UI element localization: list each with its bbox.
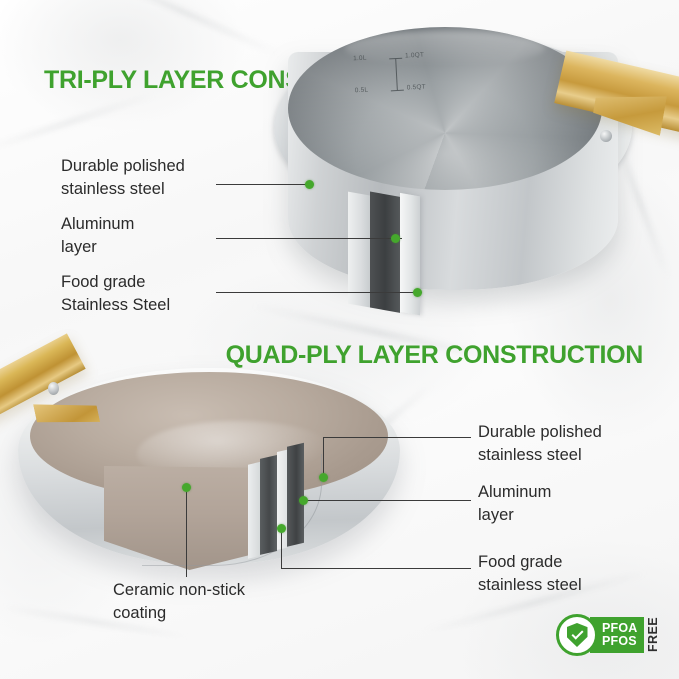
layer-aluminum	[370, 192, 400, 314]
leader-line-tri-2	[216, 238, 402, 239]
shield-check-icon	[556, 614, 598, 656]
measure-imperial: 0.5QT	[407, 84, 426, 92]
product-infographic: TRI-PLY LAYER CONSTRUCTION 1.0L 1.0QT 0.…	[0, 0, 679, 679]
layer-outer-steel	[348, 192, 370, 308]
shield-shape	[567, 623, 588, 647]
leader-line-ceramic	[186, 487, 187, 577]
leader-line-quad-2	[303, 500, 471, 501]
leader-line-tri-3	[216, 292, 422, 293]
leader-line-tri-1	[216, 184, 310, 185]
leader-dot-ceramic	[182, 483, 191, 492]
frying-pan-cutaway-layers	[248, 451, 306, 558]
measure-axis	[395, 58, 398, 90]
badge-pfos-label: PFOS	[602, 635, 638, 648]
measure-metric: 1.0L	[353, 55, 367, 63]
callout-label-ceramic-non-stick-coating: Ceramic non-stick coating	[113, 579, 245, 625]
pfoa-pfos-free-badge: PFOA PFOS FREE	[556, 613, 660, 657]
layer-outer-steel	[248, 462, 260, 559]
measure-tick	[391, 90, 404, 92]
saucepan-illustration: 1.0L 1.0QT 0.5L 0.5QT	[266, 14, 679, 314]
leader-line-quad-1-v	[323, 437, 324, 477]
saucepan-cutaway-layers	[348, 192, 420, 317]
layer-middle-steel	[277, 450, 287, 550]
leader-dot-tri-3	[413, 288, 422, 297]
leader-dot-quad-2	[299, 496, 308, 505]
leader-line-quad-1-h	[323, 437, 471, 438]
measure-imperial: 1.0QT	[405, 52, 424, 60]
callout-label-aluminum-layer: Aluminum layer	[61, 213, 134, 259]
check-mark	[571, 628, 583, 640]
badge-free-label: FREE	[646, 617, 660, 653]
saucepan-handle-rivet	[600, 130, 612, 142]
callout-label-durable-polished-stainless-steel: Durable polished stainless steel	[61, 155, 185, 201]
leader-line-quad-3-h	[281, 568, 471, 569]
layer-aluminum-1	[260, 455, 277, 555]
marble-vein	[88, 0, 282, 57]
leader-dot-tri-2	[391, 234, 400, 243]
marble-vein	[0, 92, 156, 151]
badge-chemical-labels: PFOA PFOS	[590, 617, 644, 653]
callout-label-food-grade-stainless-steel: Food grade stainless steel	[478, 551, 582, 597]
measurement-markings: 1.0L 1.0QT 0.5L 0.5QT	[353, 48, 441, 100]
callout-label-aluminum-layer: Aluminum layer	[478, 481, 551, 527]
leader-dot-quad-3	[277, 524, 286, 533]
frying-pan-rivet	[48, 382, 59, 395]
saucepan-interior	[288, 27, 602, 190]
callout-label-food-grade-stainless-steel: Food grade Stainless Steel	[61, 271, 170, 317]
measure-metric: 0.5L	[355, 87, 369, 95]
leader-line-quad-3-v	[281, 528, 282, 568]
frying-pan-illustration	[0, 362, 424, 592]
layer-aluminum-2	[287, 443, 304, 547]
callout-label-durable-polished-stainless-steel: Durable polished stainless steel	[478, 421, 602, 467]
leader-dot-tri-1	[305, 180, 314, 189]
leader-dot-quad-1	[319, 473, 328, 482]
